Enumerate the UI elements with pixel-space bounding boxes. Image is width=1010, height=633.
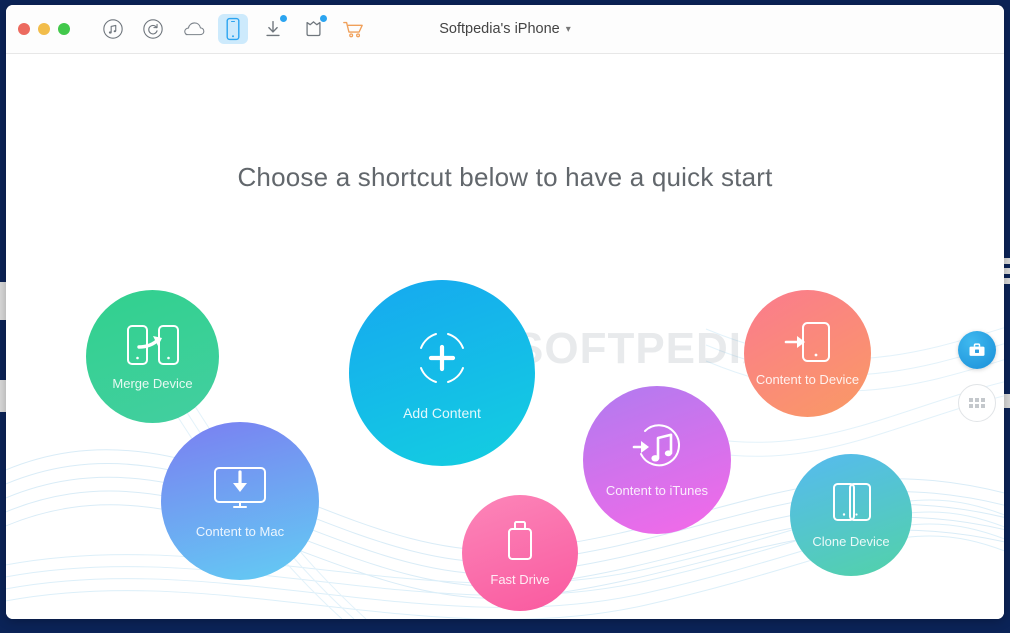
shortcut-content-to-mac[interactable]: Content to Mac <box>161 422 319 580</box>
toolbar-item-device[interactable] <box>218 14 248 44</box>
shortcut-label: Merge Device <box>112 376 192 391</box>
download-badge <box>280 15 287 22</box>
content-to-device-icon <box>783 321 833 363</box>
close-button[interactable] <box>18 23 30 35</box>
fast-drive-icon <box>504 519 536 563</box>
title-bar: Softpedia's iPhone ▾ <box>6 5 1004 54</box>
traffic-light-group <box>18 23 70 35</box>
clone-device-icon <box>828 481 874 525</box>
shortcut-label: Clone Device <box>812 534 889 549</box>
phone-icon <box>225 17 241 41</box>
toolbar-item-music[interactable] <box>98 14 128 44</box>
content-to-itunes-icon <box>627 422 687 474</box>
shortcut-label: Content to Device <box>756 372 859 387</box>
toolbar-item-restore[interactable] <box>138 14 168 44</box>
cart-icon <box>341 18 365 40</box>
music-note-circle-icon <box>102 18 124 40</box>
floating-apps-button[interactable] <box>958 384 996 422</box>
main-content: Choose a shortcut below to have a quick … <box>6 54 1004 619</box>
toolbar-item-download[interactable] <box>258 14 288 44</box>
shortcut-content-to-device[interactable]: Content to Device <box>744 290 871 417</box>
add-content-icon <box>409 325 475 391</box>
apps-grid-icon <box>969 398 985 408</box>
zoom-button[interactable] <box>58 23 70 35</box>
toolbar-item-toolkit[interactable] <box>298 14 328 44</box>
toolkit-badge <box>320 15 327 22</box>
app-window: Softpedia's iPhone ▾ <box>6 5 1004 619</box>
content-to-mac-icon <box>210 463 270 515</box>
floating-toolbox-button[interactable] <box>958 331 996 369</box>
toolbar <box>98 14 368 44</box>
shortcut-label: Content to iTunes <box>606 483 708 498</box>
shortcut-clone-device[interactable]: Clone Device <box>790 454 912 576</box>
page-title: Softpedia's iPhone <box>439 21 559 37</box>
toolbox-icon <box>967 340 987 360</box>
restore-circle-icon <box>142 18 164 40</box>
chevron-down-icon[interactable]: ▾ <box>566 24 571 35</box>
shortcut-fast-drive[interactable]: Fast Drive <box>462 495 578 611</box>
cloud-icon <box>180 18 206 40</box>
merge-device-icon <box>124 323 182 367</box>
shortcut-add-content[interactable]: Add Content <box>349 280 535 466</box>
toolbar-item-cloud[interactable] <box>178 14 208 44</box>
page-heading: Choose a shortcut below to have a quick … <box>6 162 1004 193</box>
toolbar-item-store[interactable] <box>338 14 368 44</box>
minimize-button[interactable] <box>38 23 50 35</box>
shortcut-content-to-itunes[interactable]: Content to iTunes <box>583 386 731 534</box>
shortcut-label: Fast Drive <box>490 572 549 587</box>
shortcut-label: Content to Mac <box>196 524 284 539</box>
shortcut-merge-device[interactable]: Merge Device <box>86 290 219 423</box>
desktop-background: Softpedia's iPhone ▾ <box>0 0 1010 633</box>
shortcut-label: Add Content <box>403 405 481 421</box>
